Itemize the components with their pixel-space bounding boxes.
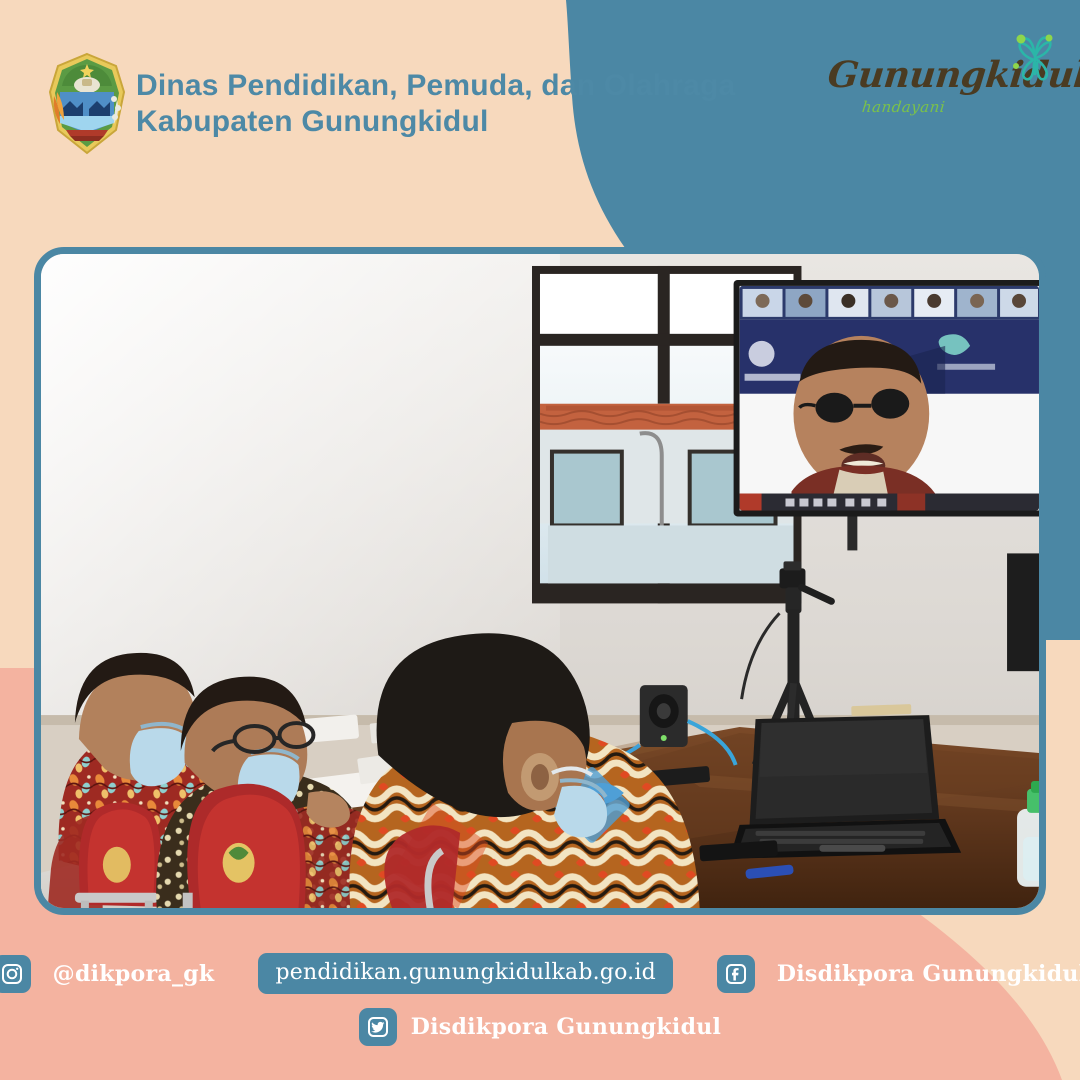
laptop [730,704,962,859]
twitter-icon[interactable] [359,1008,397,1046]
title-line-2: Kabupaten Gunungkidul [136,104,756,140]
instagram-handle[interactable]: @dikpora_gk [53,961,215,987]
poster-header: Dinas Pendidikan, Pemuda, dan Olahraga K… [0,0,1080,200]
facebook-handle[interactable]: Disdikpora Gunungkidul [777,961,1080,987]
brand-wordmark: Gunungkidul [826,54,1026,96]
brand-tagline: handayani [861,98,946,116]
video-call-speaker [791,336,935,512]
poster-canvas: Dinas Pendidikan, Pemuda, dan Olahraga K… [0,0,1080,1080]
instagram-icon[interactable] [0,955,31,993]
butterfly-ornament-icon [1004,26,1064,86]
gunungkidul-brand-logo: Gunungkidul handayani [828,36,1058,132]
wall-mounted-television [734,280,1039,550]
chair-middle [183,784,306,909]
website-pill[interactable]: pendidikan.gunungkidulkab.go.id [258,953,672,994]
facebook-icon[interactable] [717,955,755,993]
social-row-primary: @dikpora_gk pendidikan.gunungkidulkab.go… [0,953,1080,994]
regency-crest-icon [44,52,130,156]
social-row-secondary: Disdikpora Gunungkidul [0,1008,1080,1046]
twitter-handle[interactable]: Disdikpora Gunungkidul [411,1014,721,1040]
meeting-photograph [34,247,1046,915]
page-title: Dinas Pendidikan, Pemuda, dan Olahraga K… [136,68,756,140]
title-line-1: Dinas Pendidikan, Pemuda, dan Olahraga [136,68,756,104]
photo-scene [41,254,1039,909]
poster-footer: @dikpora_gk pendidikan.gunungkidulkab.go… [0,935,1080,1080]
participant-thumbnails [743,289,1038,317]
desktop-speaker [640,685,688,747]
